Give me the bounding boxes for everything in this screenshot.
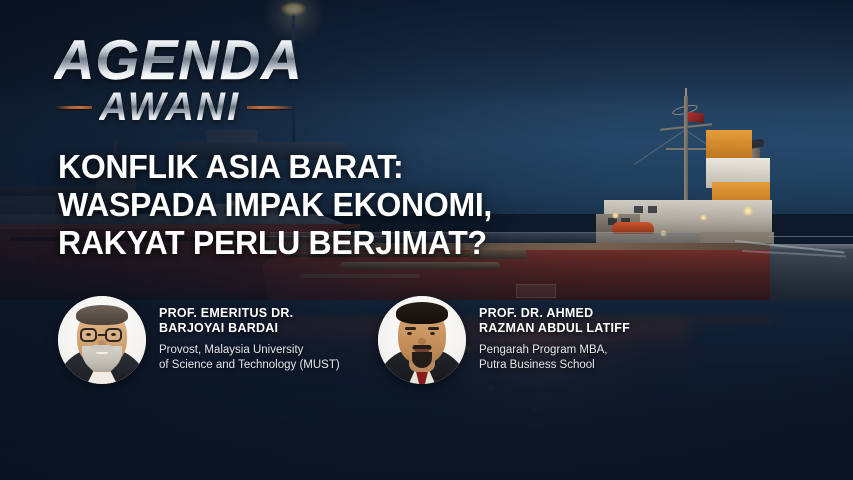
guest-role-line-1: Provost, Malaysia University [159,343,340,358]
guest-text-block: PROF. EMERITUS DR. BARJOYAI BARDAI Provo… [159,306,340,374]
avatar [378,296,466,384]
guest-role-line-2: Putra Business School [479,358,630,373]
glasses-bridge [98,334,105,336]
logo-accent-dash-right [247,106,293,109]
avatar-eye-right [111,333,116,336]
guest-role-line-1: Pengarah Program MBA, [479,343,630,358]
avatar [58,296,146,384]
avatar-hair [396,302,448,324]
avatar-eye-left [407,332,412,335]
avatar-brow-left [405,327,416,330]
avatar-nose [418,338,426,345]
program-logo: AGENDA AWANI [54,32,354,128]
guest-name-line-2: RAZMAN ABDUL LATIFF [479,321,630,336]
headline-line-1: KONFLIK ASIA BARAT: [58,148,601,186]
logo-awani-row: AWANI [56,86,354,128]
guest-card-2: PROF. DR. AHMED RAZMAN ABDUL LATIFF Peng… [378,296,630,384]
avatar-brow-right [428,327,439,330]
headline-block: KONFLIK ASIA BARAT: WASPADA IMPAK EKONOM… [58,148,618,262]
headline-line-2: WASPADA IMPAK EKONOMI, [58,186,601,224]
guest-name-line-1: PROF. DR. AHMED [479,306,630,321]
avatar-eye-right [430,332,435,335]
guest-role-line-2: of Science and Technology (MUST) [159,358,340,373]
guest-name-line-1: PROF. EMERITUS DR. [159,306,340,321]
guest-name-line-2: BARJOYAI BARDAI [159,321,340,336]
guest-card-1: PROF. EMERITUS DR. BARJOYAI BARDAI Provo… [58,296,340,384]
avatar-eye-left [86,333,91,336]
avatar-hair [76,305,128,325]
avatar-moustache [91,345,113,352]
logo-awani-text: AWANI [99,86,240,128]
logo-agenda-text: AGENDA [54,32,354,88]
thumbnail-canvas: AGENDA AWANI KONFLIK ASIA BARAT: WASPADA… [0,0,853,480]
logo-accent-dash-left [56,106,92,109]
headline-line-3: RAKYAT PERLU BERJIMAT? [58,224,601,262]
guest-text-block: PROF. DR. AHMED RAZMAN ABDUL LATIFF Peng… [479,306,630,374]
